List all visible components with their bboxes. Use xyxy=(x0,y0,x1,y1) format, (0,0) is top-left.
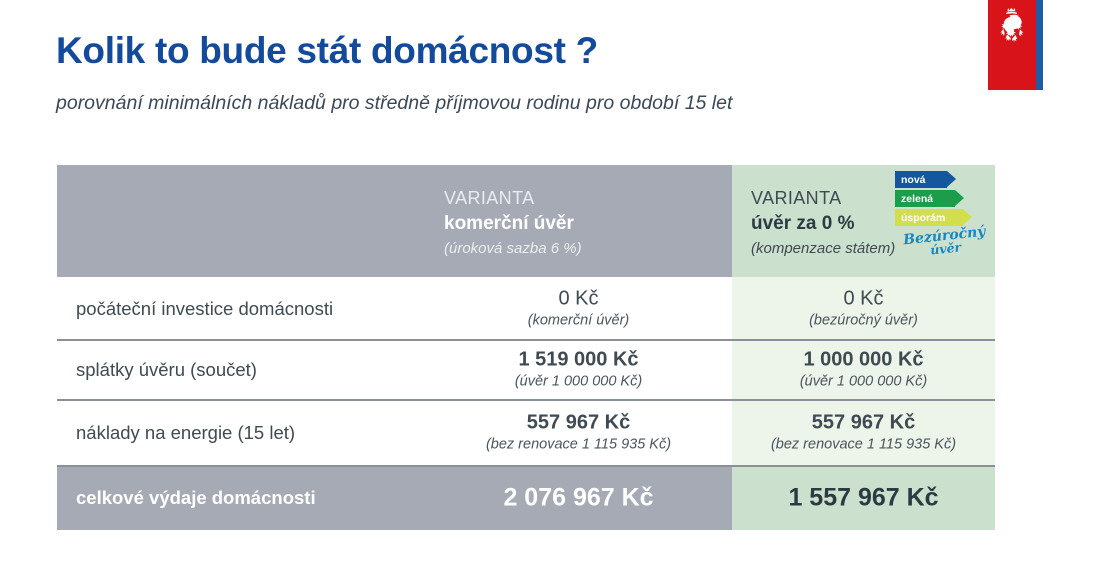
row-value-note: (úvěr 1 000 000 Kč) xyxy=(425,371,732,391)
row-value-note: (komerční úvěr) xyxy=(425,310,732,330)
row-divider xyxy=(57,399,995,401)
row-label-cell: náklady na energie (15 let) xyxy=(57,400,425,466)
header-variant-name: komerční úvěr xyxy=(444,210,582,239)
page-title: Kolik to bude stát domácnost ? xyxy=(56,30,598,72)
row-value-note: (úvěr 1 000 000 Kč) xyxy=(732,371,995,391)
table-row: splátky úvěru (součet) 1 519 000 Kč (úvě… xyxy=(57,340,995,400)
row-value: 0 Kč xyxy=(425,287,732,310)
total-value-cell-commercial: 2 076 967 Kč xyxy=(425,466,732,530)
total-value: 2 076 967 Kč xyxy=(425,484,732,513)
nova-zelena-usporam-logo: nová zelená úsporám Bezúročný úvěr xyxy=(895,171,987,261)
row-value-cell-commercial: 557 967 Kč (bez renovace 1 115 935 Kč) xyxy=(425,400,732,466)
logo-arrow-nova: nová xyxy=(895,171,947,188)
row-value-cell-commercial: 1 519 000 Kč (úvěr 1 000 000 Kč) xyxy=(425,340,732,400)
row-value-cell-commercial: 0 Kč (komerční úvěr) xyxy=(425,277,732,340)
logo-arrow-usporam: úsporám xyxy=(895,209,963,226)
row-value: 557 967 Kč xyxy=(732,411,995,434)
czech-lion-icon xyxy=(994,5,1030,47)
row-value-cell-zero: 0 Kč (bezúročný úvěr) xyxy=(732,277,995,340)
logo-arrow-label: úsporám xyxy=(901,212,945,224)
header-variant-label: VARIANTA xyxy=(751,186,895,210)
table-total-row: celkové výdaje domácnosti 2 076 967 Kč 1… xyxy=(57,466,995,530)
logo-arrow-zelena: zelená xyxy=(895,190,955,207)
table-header-row: VARIANTA komerční úvěr (úroková sazba 6 … xyxy=(57,165,995,277)
row-label-cell: počáteční investice domácnosti xyxy=(57,277,425,340)
header-variant-name: úvěr za 0 % xyxy=(751,210,895,239)
logo-arrow-label: zelená xyxy=(901,193,933,205)
row-label: náklady na energie (15 let) xyxy=(76,422,295,444)
header-variant-note: (kompenzace státem) xyxy=(751,239,895,259)
row-value-note: (bez renovace 1 115 935 Kč) xyxy=(732,434,995,454)
row-value: 557 967 Kč xyxy=(425,411,732,434)
row-value-note: (bezúročný úvěr) xyxy=(732,310,995,330)
row-value: 1 000 000 Kč xyxy=(732,348,995,371)
total-value: 1 557 967 Kč xyxy=(732,484,995,513)
emblem-blue-stripe xyxy=(1036,0,1043,90)
row-divider xyxy=(57,465,995,467)
row-label: splátky úvěru (součet) xyxy=(76,359,257,381)
page-subtitle: porovnání minimálních nákladů pro středn… xyxy=(56,92,732,115)
header-variant-label: VARIANTA xyxy=(444,186,582,210)
row-value-note: (bez renovace 1 115 935 Kč) xyxy=(425,434,732,454)
comparison-table: VARIANTA komerční úvěr (úroková sazba 6 … xyxy=(57,165,995,530)
logo-script-text: Bezúročný úvěr xyxy=(900,224,990,260)
header-cell-zero: VARIANTA úvěr za 0 % (kompenzace státem)… xyxy=(732,165,995,277)
slide-root: Kolik to bude stát domácnost ? porovnání… xyxy=(0,0,1095,566)
header-cell-empty xyxy=(57,165,425,277)
row-value: 1 519 000 Kč xyxy=(425,348,732,371)
row-label: počáteční investice domácnosti xyxy=(76,298,333,320)
header-variant-note: (úroková sazba 6 %) xyxy=(444,239,582,259)
total-value-cell-zero: 1 557 967 Kč xyxy=(732,466,995,530)
total-label: celkové výdaje domácnosti xyxy=(76,487,316,509)
row-label-cell: splátky úvěru (součet) xyxy=(57,340,425,400)
row-value-cell-zero: 1 000 000 Kč (úvěr 1 000 000 Kč) xyxy=(732,340,995,400)
row-divider xyxy=(57,339,995,341)
row-value-cell-zero: 557 967 Kč (bez renovace 1 115 935 Kč) xyxy=(732,400,995,466)
table-row: náklady na energie (15 let) 557 967 Kč (… xyxy=(57,400,995,466)
total-label-cell: celkové výdaje domácnosti xyxy=(57,466,425,530)
row-value: 0 Kč xyxy=(732,287,995,310)
header-cell-commercial: VARIANTA komerční úvěr (úroková sazba 6 … xyxy=(425,165,732,277)
czech-emblem xyxy=(988,0,1045,90)
table-row: počáteční investice domácnosti 0 Kč (kom… xyxy=(57,277,995,340)
logo-arrow-label: nová xyxy=(901,174,926,186)
